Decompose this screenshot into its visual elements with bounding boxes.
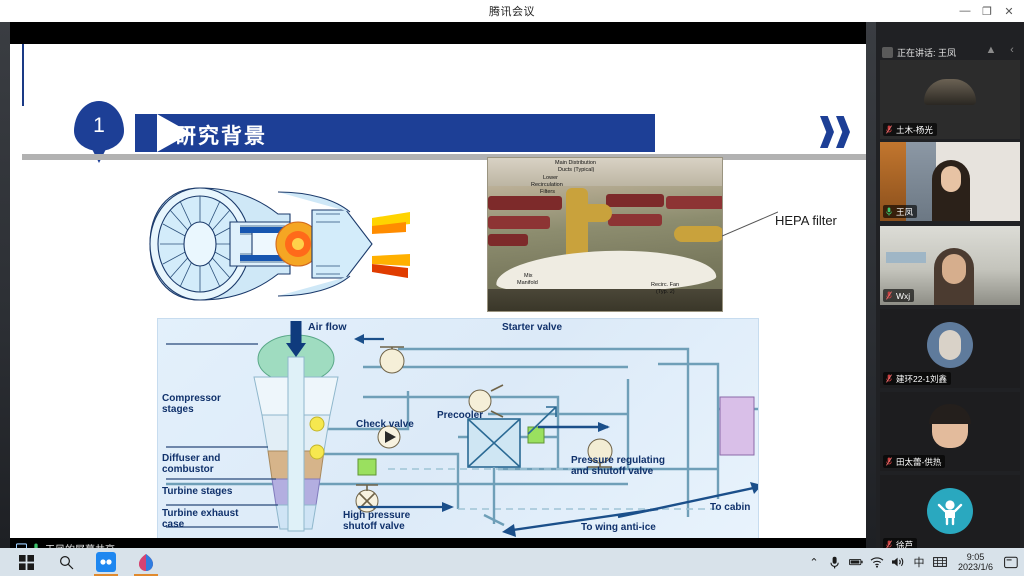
clock-date: 2023/1/6 xyxy=(958,562,993,572)
photo-label: Lower xyxy=(543,175,558,181)
schematic-label-turbine-exhaust-2: case xyxy=(162,519,184,530)
participant-video-bg xyxy=(886,252,926,263)
mic-muted-icon xyxy=(885,457,893,466)
strip-controls: ▲ ‹ xyxy=(983,42,1020,58)
schematic-label-diffuser: Diffuser and xyxy=(162,453,220,464)
meeting-icon xyxy=(96,552,116,572)
taskbar-items xyxy=(0,548,166,576)
duct-shape xyxy=(666,196,723,209)
battery-glyph xyxy=(849,557,863,567)
avatar-hat xyxy=(929,404,971,424)
photo-label: Recirc. Fan xyxy=(651,282,679,288)
browser-icon xyxy=(137,553,155,571)
mic-muted-icon xyxy=(885,374,893,383)
close-button[interactable]: ✕ xyxy=(998,0,1020,22)
duct-shape xyxy=(606,194,664,207)
participant-tile[interactable]: 王凤 xyxy=(880,142,1020,221)
schematic-label-to-cabin: To cabin xyxy=(710,502,750,513)
participant-tile[interactable]: Wxj xyxy=(880,226,1020,305)
participant-name-badge: 王凤 xyxy=(883,205,917,218)
schematic-label-turbine-exhaust: Turbine exhaust xyxy=(162,508,239,519)
slide-title: 研究背景 xyxy=(175,120,267,150)
mic-muted-icon xyxy=(885,291,893,300)
schematic-label-wing-anti-ice: To wing anti-ice xyxy=(581,522,656,533)
main-duct xyxy=(566,188,588,262)
participant-name-badge: 土木-杨光 xyxy=(883,123,937,136)
notification-icon[interactable] xyxy=(1004,555,1018,569)
photo-label: Main Distribution xyxy=(555,160,596,166)
photo-label: (Typ. 2) xyxy=(656,289,675,295)
participant-name-badge: 田太蕾-供热 xyxy=(883,455,945,468)
maximize-button[interactable]: ❐ xyxy=(976,0,998,22)
presentation-slide: 1 研究背景 xyxy=(10,44,866,544)
photo-ceiling xyxy=(488,158,722,186)
photo-label: Mix xyxy=(524,273,533,279)
window-controls: — ❐ ✕ xyxy=(954,0,1020,22)
start-button[interactable] xyxy=(6,548,46,576)
participant-name-badge: Wxj xyxy=(883,289,914,302)
avatar-cartoon-icon xyxy=(935,496,965,526)
hepa-filter-label: HEPA filter xyxy=(775,213,837,228)
participant-face xyxy=(941,166,961,192)
photo-label: Manifold xyxy=(517,280,538,286)
search-button[interactable] xyxy=(46,548,86,576)
collapse-button[interactable]: ‹ xyxy=(1004,42,1020,58)
duct-shape xyxy=(488,196,562,210)
participant-name: 建环22-1刘鑫 xyxy=(896,373,947,385)
section-number: 1 xyxy=(74,101,124,151)
schematic-label-air-flow: Air flow xyxy=(308,321,347,333)
participant-face xyxy=(942,254,966,284)
show-hidden-icons-button[interactable]: ⌃ xyxy=(807,555,821,569)
system-tray: ⌃ xyxy=(807,552,1024,572)
participant-tile[interactable]: 建环22-1刘鑫 xyxy=(880,309,1020,388)
windows-icon xyxy=(19,555,34,570)
windows-taskbar: ⌃ xyxy=(0,548,1024,576)
participant-name-badge: 建环22-1刘鑫 xyxy=(883,372,951,385)
schematic-label-compressor: Compressor xyxy=(162,393,221,404)
schematic-label-compressor-2: stages xyxy=(162,404,194,415)
active-speaker-label: 正在讲话: 王凤 xyxy=(897,46,956,59)
photo-label: Recirculation xyxy=(531,182,563,188)
bleed-air-schematic xyxy=(157,318,759,540)
window-title: 腾讯会议 xyxy=(489,3,535,19)
photo-label: Filters xyxy=(540,189,555,195)
tencent-meeting-button[interactable] xyxy=(86,548,126,576)
shared-screen-region[interactable]: 1 研究背景 xyxy=(10,22,866,538)
participant-name: 田太蕾-供热 xyxy=(896,456,941,468)
participant-name: Wxj xyxy=(896,291,910,301)
schematic-label-prsov: Pressure regulating xyxy=(571,455,665,466)
microphone-glyph xyxy=(830,556,839,569)
schematic-drawing xyxy=(158,319,759,540)
schematic-label-precooler: Precooler xyxy=(437,410,483,421)
hepa-leader-line xyxy=(722,210,778,238)
aircraft-duct-photo xyxy=(487,157,723,312)
scroll-up-button[interactable]: ▲ xyxy=(983,42,999,58)
duct-shape xyxy=(488,234,528,246)
participant-tile[interactable]: 田太蕾-供热 xyxy=(880,392,1020,471)
volume-icon[interactable] xyxy=(891,555,905,569)
duct-shape xyxy=(488,216,550,229)
mic-active-icon xyxy=(885,207,893,216)
duct-shape xyxy=(608,214,662,226)
clock-time: 9:05 xyxy=(958,552,993,562)
participant-tile[interactable]: 土木-杨光 xyxy=(880,60,1020,139)
microphone-icon[interactable] xyxy=(828,555,842,569)
participant-name: 王凤 xyxy=(896,206,913,218)
participant-video xyxy=(924,79,976,105)
speaker-avatar-icon xyxy=(882,47,893,58)
photo-label: Ducts (Typical) xyxy=(558,167,594,173)
keyboard-icon[interactable] xyxy=(933,555,947,569)
keyboard-glyph xyxy=(933,556,947,568)
battery-icon[interactable] xyxy=(849,555,863,569)
taskbar-clock[interactable]: 9:05 2023/1/6 xyxy=(954,552,997,572)
ime-icon[interactable]: 中 xyxy=(912,555,926,569)
jet-engine-illustration xyxy=(140,174,410,314)
schematic-label-diffuser-2: combustor xyxy=(162,464,214,475)
wifi-glyph xyxy=(870,556,884,568)
notification-glyph xyxy=(1004,556,1018,569)
meeting-window-body: 1 研究背景 xyxy=(0,22,1024,548)
avatar-figure xyxy=(939,330,961,360)
volume-glyph xyxy=(891,556,905,568)
slide-header xyxy=(10,44,866,106)
slide-divider xyxy=(22,154,866,160)
wifi-icon[interactable] xyxy=(870,555,884,569)
search-icon xyxy=(59,555,74,570)
schematic-label-hp-shutoff-2: shutoff valve xyxy=(343,521,405,532)
schematic-label-starter-valve: Starter valve xyxy=(502,322,562,333)
photo-floor xyxy=(488,289,722,311)
minimize-button[interactable]: — xyxy=(954,0,976,22)
participant-strip: 正在讲话: 王凤 ▲ ‹ 土木-杨光 xyxy=(876,22,1024,548)
main-duct xyxy=(566,204,612,222)
double-chevron-icon xyxy=(820,116,850,148)
duct-shape xyxy=(674,226,723,242)
mic-muted-icon xyxy=(885,125,893,134)
participant-tile[interactable]: 徐芦 xyxy=(880,475,1020,554)
slide-left-rule xyxy=(22,44,24,106)
schematic-label-check-valve: Check valve xyxy=(356,419,414,430)
window-titlebar: 腾讯会议 — ❐ ✕ xyxy=(0,0,1024,22)
participant-name: 土木-杨光 xyxy=(896,124,933,136)
browser-button[interactable] xyxy=(126,548,166,576)
schematic-label-turbine-stages: Turbine stages xyxy=(162,486,232,497)
schematic-label-prsov-2: and shutoff valve xyxy=(571,466,653,477)
schematic-label-hp-shutoff: High pressure xyxy=(343,510,410,521)
